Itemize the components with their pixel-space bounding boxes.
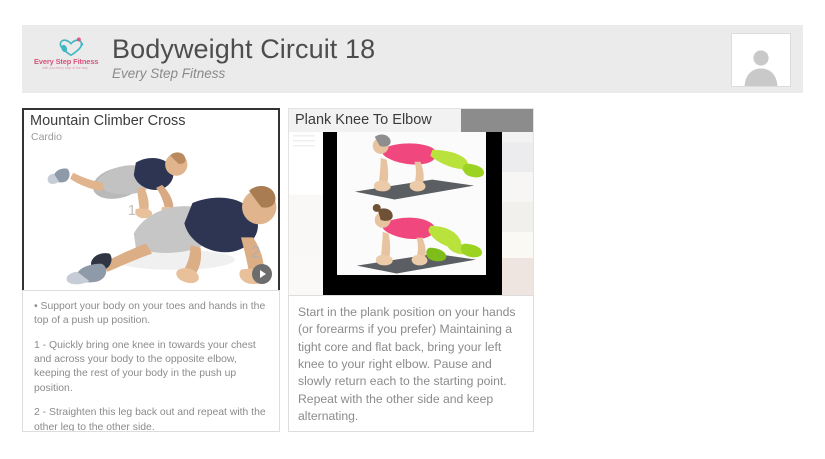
instruction-line: 2 - Straighten this leg back out and rep… (34, 406, 268, 432)
page-title: Bodyweight Circuit 18 (112, 35, 375, 63)
exercise-instructions: Start in the plank position on your hand… (288, 295, 534, 432)
brand-logo-name: Every Step Fitness (34, 57, 96, 66)
exercise-card[interactable]: 1 2 Mountain Climber Cross Cardio (22, 108, 280, 432)
svg-text:1: 1 (128, 202, 136, 219)
brand-logo-tagline: with you every step of the way (34, 66, 96, 70)
user-placeholder-avatar-icon (741, 46, 781, 86)
exercise-title: Mountain Climber Cross (30, 113, 186, 129)
background-page-left (289, 109, 325, 295)
exercise-category: Cardio (31, 131, 62, 143)
instruction-line: 1 - Quickly bring one knee in towards yo… (34, 339, 268, 396)
avatar[interactable] (731, 33, 791, 87)
exercise-instructions: • Support your body on your toes and han… (22, 290, 280, 432)
brand-logo: Every Step Fitness with you every step o… (34, 36, 96, 82)
page-subtitle: Every Step Fitness (112, 65, 375, 83)
instruction-line: Start in the plank position on your hand… (298, 304, 524, 425)
play-button[interactable] (252, 264, 272, 284)
header-text-group: Bodyweight Circuit 18 Every Step Fitness (112, 35, 375, 83)
background-thumbnails-right (499, 109, 533, 295)
svg-text:2: 2 (251, 244, 260, 262)
plank-knee-elbow-photo (337, 128, 486, 275)
instruction-line: • Support your body on your toes and han… (34, 300, 268, 329)
exercise-media[interactable]: Plank Knee To Elbow (288, 108, 534, 295)
app-header: Every Step Fitness with you every step o… (22, 25, 803, 93)
exercise-media[interactable]: 1 2 Mountain Climber Cross Cardio (22, 108, 280, 290)
play-triangle-icon (260, 270, 266, 278)
plank-pose-top (337, 128, 486, 202)
heart-footprint-logo-icon (56, 36, 86, 58)
mountain-climber-photo: 1 2 (24, 110, 278, 290)
exercise-card[interactable]: Plank Knee To Elbow Start in the plank p… (288, 108, 534, 432)
knee-to-elbow-pose-bottom (337, 202, 486, 276)
exercise-title: Plank Knee To Elbow (295, 112, 432, 128)
